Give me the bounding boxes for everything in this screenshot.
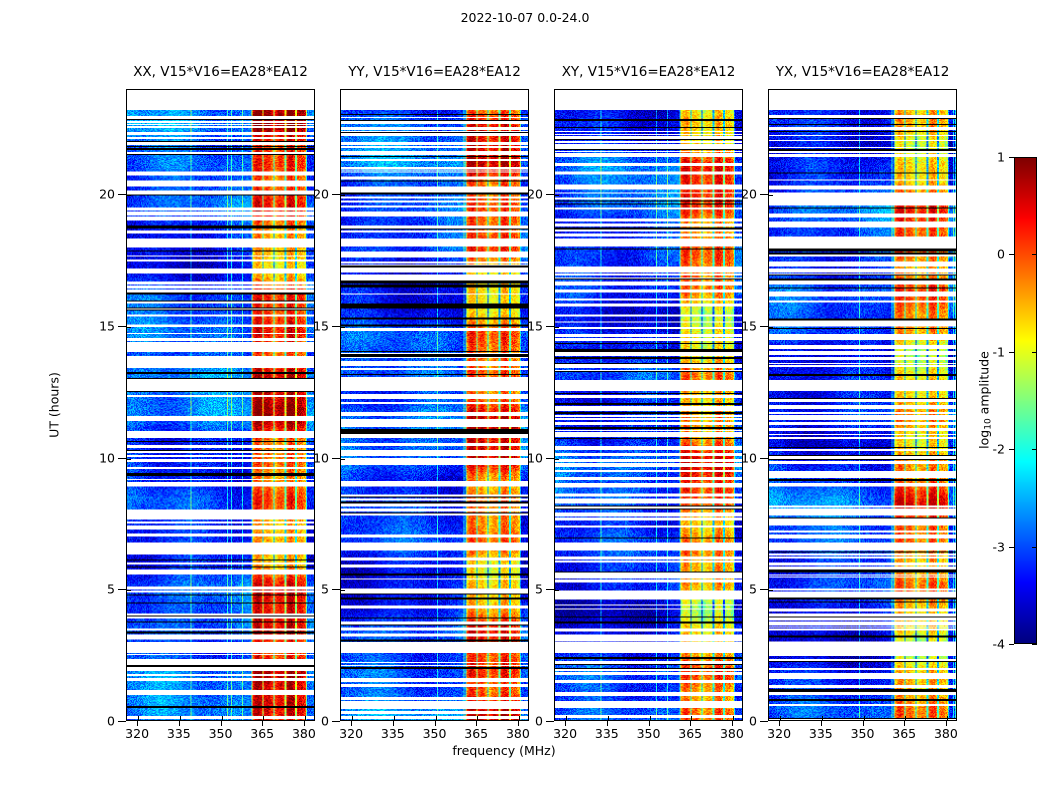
y-tick-mark-inner xyxy=(341,195,345,196)
y-tick-mark xyxy=(118,326,126,327)
colorbar-tick-mark-inner xyxy=(1032,157,1037,158)
x-tick-label: 335 xyxy=(167,726,191,741)
colorbar-tick-label: -1 xyxy=(993,344,1005,359)
colorbar-tick-mark-inner xyxy=(1032,352,1037,353)
x-tick-label: 350 xyxy=(423,726,447,741)
x-tick-label: 320 xyxy=(553,726,577,741)
x-tick-mark-inner xyxy=(566,716,567,720)
y-tick-label: 5 xyxy=(107,582,115,597)
x-tick-mark-inner xyxy=(436,716,437,720)
panel-title-yx: YX, V15*V16=EA28*EA12 xyxy=(728,64,997,80)
colorbar-tick-mark xyxy=(1009,644,1014,645)
spectrogram-xx xyxy=(127,90,314,720)
x-tick-label: 335 xyxy=(595,726,619,741)
x-tick-mark-inner xyxy=(947,716,948,720)
colorbar-tick-mark xyxy=(1009,449,1014,450)
x-axis-label-text: frequency (MHz) xyxy=(452,743,555,758)
x-tick-mark-inner xyxy=(864,716,865,720)
colorbar-tick-label: -3 xyxy=(993,539,1005,554)
x-tick-mark-inner xyxy=(905,716,906,720)
x-tick-label: 320 xyxy=(339,726,363,741)
colorbar-tick-mark-inner xyxy=(1032,254,1037,255)
x-tick-mark-inner xyxy=(519,716,520,720)
y-tick-label: 15 xyxy=(99,319,115,334)
x-tick-label: 365 xyxy=(464,726,488,741)
x-tick-label: 365 xyxy=(892,726,916,741)
y-tick-mark xyxy=(760,194,768,195)
y-tick-label: 15 xyxy=(313,319,329,334)
x-tick-label: 380 xyxy=(934,726,958,741)
y-tick-label: 15 xyxy=(741,319,757,334)
y-tick-label: 10 xyxy=(527,450,543,465)
x-tick-mark-inner xyxy=(138,716,139,720)
y-tick-label: 5 xyxy=(321,582,329,597)
x-tick-label: 350 xyxy=(851,726,875,741)
y-tick-mark-inner xyxy=(769,590,773,591)
colorbar-tick-mark xyxy=(1009,254,1014,255)
x-tick-mark-inner xyxy=(733,716,734,720)
y-tick-mark-inner xyxy=(769,459,773,460)
y-tick-mark xyxy=(546,194,554,195)
x-tick-label: 380 xyxy=(292,726,316,741)
colorbar-tick-label: 1 xyxy=(997,150,1005,165)
y-tick-mark-inner xyxy=(127,327,131,328)
y-tick-mark xyxy=(118,194,126,195)
panel-yy[interactable]: YY, V15*V16=EA28*EA12 051015203203353503… xyxy=(340,89,529,721)
colorbar-tick-label: 0 xyxy=(997,247,1005,262)
spectrogram-xy xyxy=(555,90,742,720)
y-tick-mark-inner xyxy=(341,327,345,328)
y-tick-label: 10 xyxy=(99,450,115,465)
y-tick-mark-inner xyxy=(341,459,345,460)
spectrogram-yy xyxy=(341,90,528,720)
y-tick-mark xyxy=(546,458,554,459)
x-tick-label: 350 xyxy=(637,726,661,741)
figure: 2022-10-07 0.0-24.0 XX, V15*V16=EA28*EA1… xyxy=(0,0,1050,800)
axes-xy[interactable] xyxy=(554,89,743,721)
colorbar-tick-mark xyxy=(1009,352,1014,353)
y-tick-mark xyxy=(332,721,340,722)
y-tick-label: 20 xyxy=(741,187,757,202)
colorbar-tick-mark xyxy=(1009,547,1014,548)
x-tick-mark-inner xyxy=(263,716,264,720)
y-tick-label: 10 xyxy=(313,450,329,465)
x-tick-mark-inner xyxy=(305,716,306,720)
colorbar-tick-label: -4 xyxy=(993,637,1005,652)
axes-xx[interactable] xyxy=(126,89,315,721)
y-tick-mark-inner xyxy=(555,195,559,196)
y-tick-mark-inner xyxy=(769,195,773,196)
y-tick-label: 5 xyxy=(749,582,757,597)
y-tick-mark-inner xyxy=(341,590,345,591)
y-tick-label: 20 xyxy=(99,187,115,202)
y-tick-mark xyxy=(546,589,554,590)
y-tick-mark xyxy=(546,326,554,327)
y-tick-label: 15 xyxy=(527,319,543,334)
y-tick-mark xyxy=(760,589,768,590)
y-tick-mark xyxy=(118,458,126,459)
x-tick-label: 365 xyxy=(678,726,702,741)
x-tick-mark-inner xyxy=(477,716,478,720)
y-tick-label: 0 xyxy=(107,714,115,729)
axes-yx[interactable] xyxy=(768,89,957,721)
colorbar[interactable]: 10-1-2-3-4 xyxy=(1014,157,1037,644)
x-tick-mark-inner xyxy=(780,716,781,720)
y-tick-mark xyxy=(118,721,126,722)
colorbar-tick-mark-inner xyxy=(1032,644,1037,645)
y-tick-mark-inner xyxy=(127,459,131,460)
y-tick-label: 0 xyxy=(321,714,329,729)
y-tick-mark xyxy=(332,194,340,195)
x-tick-mark-inner xyxy=(650,716,651,720)
x-tick-label: 335 xyxy=(381,726,405,741)
y-tick-mark xyxy=(760,326,768,327)
x-tick-mark-inner xyxy=(608,716,609,720)
y-tick-label: 0 xyxy=(749,714,757,729)
y-tick-mark xyxy=(760,458,768,459)
y-tick-mark xyxy=(332,589,340,590)
x-tick-label: 320 xyxy=(767,726,791,741)
x-tick-mark-inner xyxy=(222,716,223,720)
y-tick-mark-inner xyxy=(127,195,131,196)
y-tick-mark-inner xyxy=(555,459,559,460)
figure-suptitle: 2022-10-07 0.0-24.0 xyxy=(0,10,1050,25)
x-tick-label: 320 xyxy=(125,726,149,741)
y-tick-label: 0 xyxy=(535,714,543,729)
y-tick-label: 20 xyxy=(313,187,329,202)
x-tick-mark-inner xyxy=(180,716,181,720)
y-tick-label: 20 xyxy=(527,187,543,202)
panel-xy[interactable]: XY, V15*V16=EA28*EA12 051015203203353503… xyxy=(554,89,743,721)
panel-xx[interactable]: XX, V15*V16=EA28*EA12 051015203203353503… xyxy=(126,89,315,721)
x-tick-mark-inner xyxy=(691,716,692,720)
y-tick-mark xyxy=(332,326,340,327)
y-axis-label: UT (hours) xyxy=(47,372,62,438)
colorbar-tick-mark-inner xyxy=(1032,547,1037,548)
x-tick-mark-inner xyxy=(822,716,823,720)
x-tick-label: 365 xyxy=(250,726,274,741)
y-tick-label: 10 xyxy=(741,450,757,465)
x-tick-label: 335 xyxy=(809,726,833,741)
y-tick-mark-inner xyxy=(555,327,559,328)
x-tick-label: 380 xyxy=(720,726,744,741)
x-tick-label: 380 xyxy=(506,726,530,741)
x-axis-label: frequency (MHz) xyxy=(0,743,1050,758)
colorbar-label: log10 amplitude xyxy=(977,351,994,449)
y-tick-mark-inner xyxy=(127,590,131,591)
panel-yx[interactable]: YX, V15*V16=EA28*EA12 051015203203353503… xyxy=(768,89,957,721)
y-tick-mark xyxy=(118,589,126,590)
y-tick-mark-inner xyxy=(769,327,773,328)
y-tick-label: 5 xyxy=(535,582,543,597)
y-tick-mark xyxy=(332,458,340,459)
y-tick-mark xyxy=(546,721,554,722)
x-tick-mark-inner xyxy=(394,716,395,720)
x-tick-mark-inner xyxy=(352,716,353,720)
y-tick-mark-inner xyxy=(555,590,559,591)
colorbar-gradient xyxy=(1014,157,1037,644)
colorbar-tick-mark-inner xyxy=(1032,449,1037,450)
colorbar-tick-label: -2 xyxy=(993,442,1005,457)
colorbar-tick-mark xyxy=(1009,157,1014,158)
x-tick-label: 350 xyxy=(209,726,233,741)
axes-yy[interactable] xyxy=(340,89,529,721)
spectrogram-yx xyxy=(769,90,956,720)
y-tick-mark xyxy=(760,721,768,722)
